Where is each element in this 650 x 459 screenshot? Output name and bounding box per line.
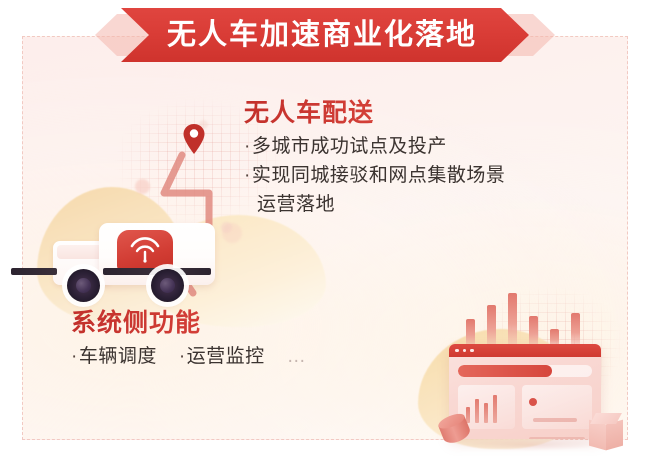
window-dot-minimize [463,349,467,353]
progress-bar-fill [458,365,552,377]
van-illustration [43,115,273,305]
title-banner: 无人车加速商业化落地 [95,8,555,62]
section-delivery: 无人车配送 ·多城市成功试点及投产 ·实现同城接驳和网点集散场景 运营落地 [244,99,604,220]
dashboard-panels [458,385,592,429]
bullet-item: ·实现同城接驳和网点集散场景 [244,162,604,191]
van-wheel-front [67,269,100,302]
floating-bar [487,305,496,349]
list-bullet-dot [529,398,537,406]
wifi-icon [128,237,162,263]
cube-face-right [606,420,623,451]
bullet-item: ·运营监控 [179,343,265,372]
van-wheel-rear [151,269,184,302]
bullet-dot: · [71,346,78,367]
section-delivery-heading: 无人车配送 [244,99,604,127]
bullet-continuation: 运营落地 [244,191,604,220]
window-dot-maximize [470,349,474,353]
section-system-heading: 系统侧功能 [71,309,451,337]
cube-face-left [589,420,606,451]
content-card: 无人车配送 ·多城市成功试点及投产 ·实现同城接驳和网点集散场景 运营落地 系统… [22,36,628,440]
more-indicator: … [287,346,308,368]
bullet-dot: · [179,346,186,367]
window-dot-close [455,349,459,353]
bullet-text: 车辆调度 [79,346,157,367]
van-signal-panel [117,230,173,270]
list-text-line [533,418,577,422]
delivery-van [53,223,223,301]
bullet-dot: · [244,136,251,157]
page-title: 无人车加速商业化落地 [167,21,483,50]
window-body [449,357,601,437]
banner-body: 无人车加速商业化落地 [121,8,529,62]
bullet-item: ·多城市成功试点及投产 [244,133,604,162]
infographic-root: 无人车配送 ·多城市成功试点及投产 ·实现同城接驳和网点集散场景 运营落地 系统… [0,0,650,459]
mini-bar [484,403,488,423]
van-stripe-front [11,268,57,275]
bullet-dot: · [244,165,251,186]
bullet-text: 实现同城接驳和网点集散场景 [252,165,506,186]
floating-bar-chart [466,287,584,349]
dashboard-illustration [441,287,641,459]
mini-bar [493,395,497,423]
section-delivery-bullets: ·多城市成功试点及投产 ·实现同城接驳和网点集散场景 运营落地 [244,133,604,220]
bullet-text: 运营监控 [187,346,265,367]
list-panel [522,385,593,429]
section-system-bullets: ·车辆调度 ·运营监控 … [71,343,451,372]
dashboard-window [449,344,601,439]
bullet-item: ·车辆调度 [71,343,157,372]
map-pin-icon [182,123,206,160]
list-text-line [529,437,585,439]
cube-shape [589,413,623,449]
bullet-text: 多城市成功试点及投产 [252,136,447,157]
window-title-bar [449,344,601,357]
mini-bar [475,399,479,423]
dashboard-shadow [459,439,601,451]
van-window [57,245,103,259]
section-system: 系统侧功能 ·车辆调度 ·运营监控 … [71,309,451,372]
floating-bar [508,293,517,349]
progress-bar [458,365,592,377]
